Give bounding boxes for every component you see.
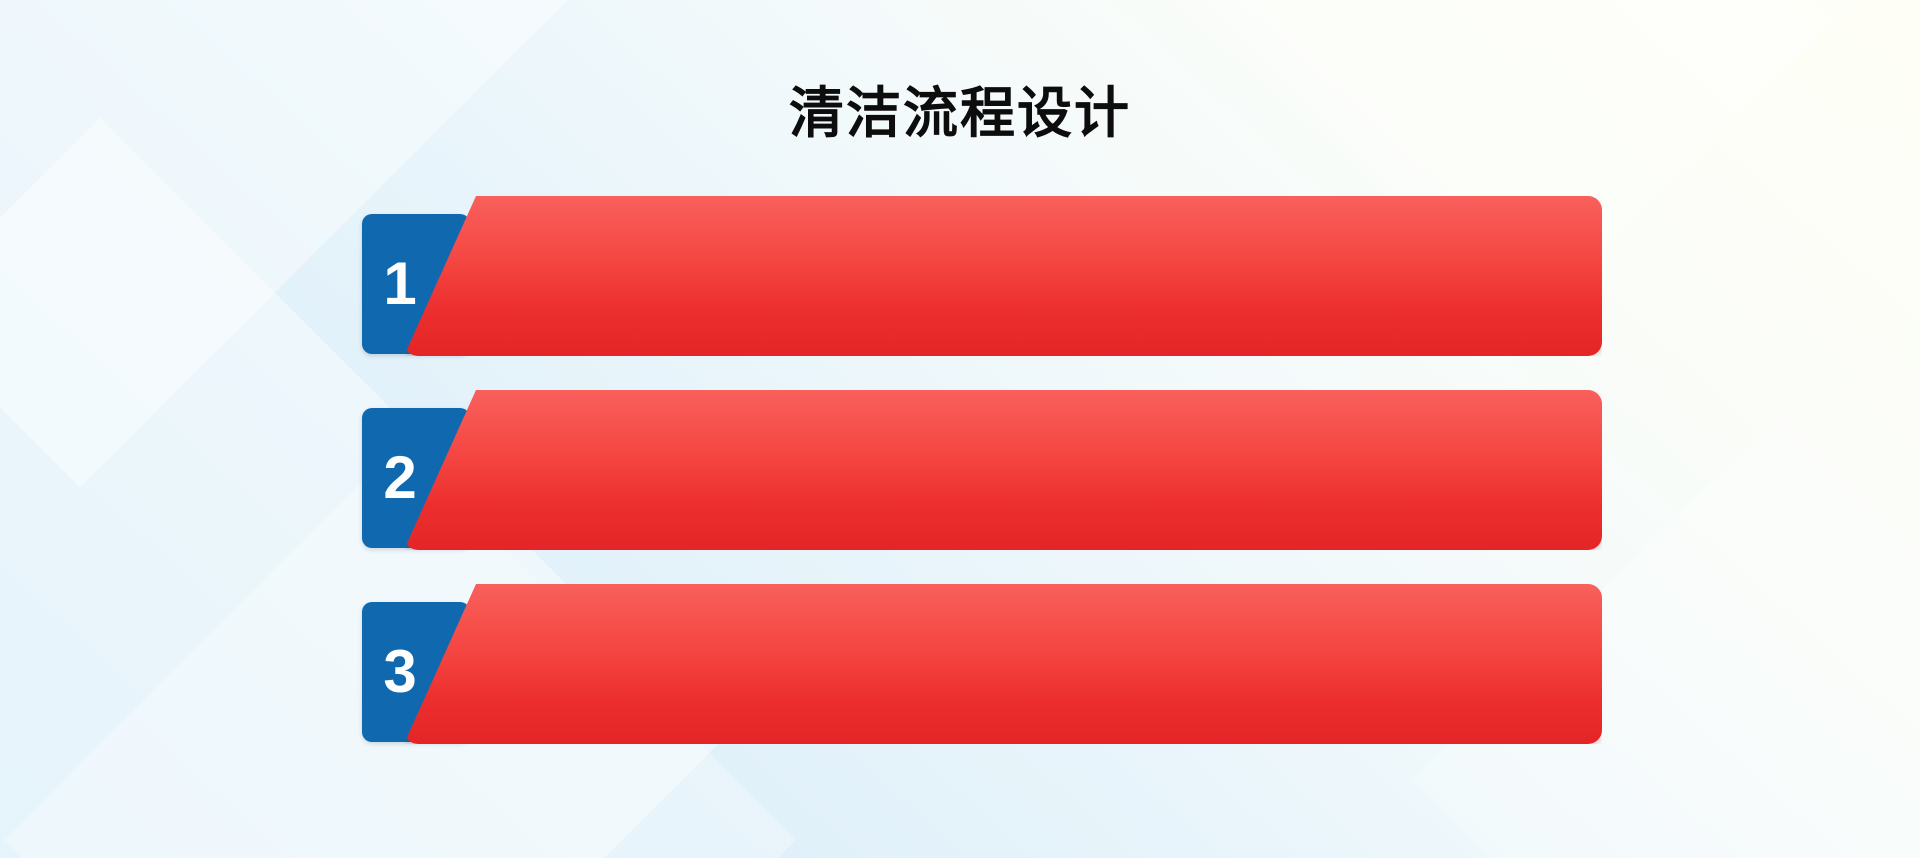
page-title: 清洁流程设计 [0,68,1920,148]
step-content-panel [404,196,1602,356]
process-step-row: 1 夜间非停车高峰：驾驶式洗地机清洗坡道弯道，强力去除轮胎印 [362,196,1602,356]
process-step-row: 2 扫地机清扫车库入口、车位缝隙等区域的灰尘 [362,390,1602,550]
process-step-row: 3 清洁后地面快速吸干，无积水残留 [362,584,1602,744]
step-content-panel [404,390,1602,550]
step-content-panel [404,584,1602,744]
